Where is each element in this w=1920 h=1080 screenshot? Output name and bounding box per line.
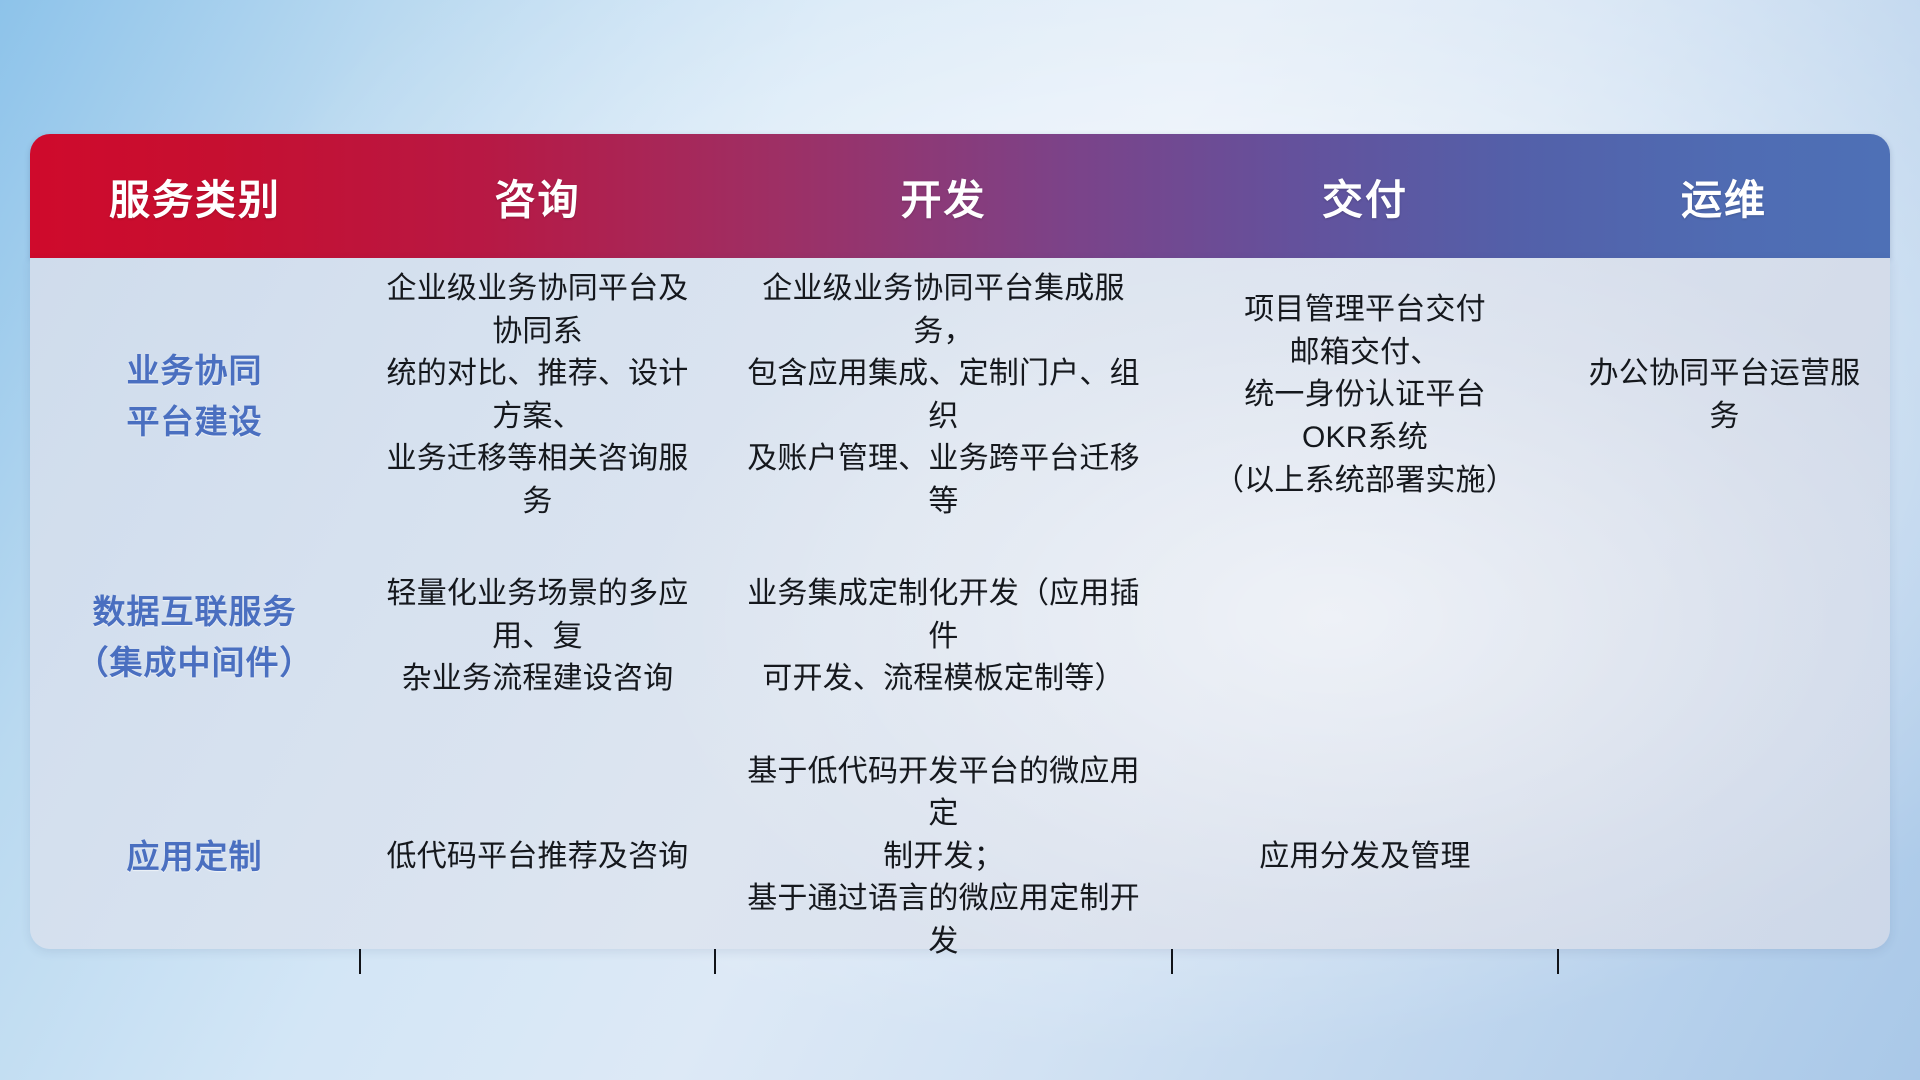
column-header-consulting: 咨询 — [360, 134, 715, 258]
cell-text: 项目管理平台交付 邮箱交付、 统一身份认证平台 OKR系统 （以上系统部署实施） — [1173, 279, 1557, 512]
cell-text — [1173, 627, 1557, 647]
table-row: 业务协同 平台建设 企业级业务协同平台及协同系 统的对比、推荐、设计方案、 业务… — [30, 258, 1890, 535]
cell-text: 应用分发及管理 — [1173, 826, 1557, 889]
row-category-label: 应用定制 — [30, 831, 359, 882]
table: 服务类别 咨询 开发 交付 运维 业务协同 平台建设 企业级业务协同平台及协同系… — [30, 134, 1890, 974]
column-header-operations: 运维 — [1558, 134, 1890, 258]
row-category-label: 数据互联服务 （集成中间件） — [30, 586, 359, 688]
cell-operations — [1558, 739, 1890, 973]
cell-consulting: 低代码平台推荐及咨询 — [360, 739, 715, 973]
cell-delivery — [1172, 535, 1558, 739]
column-header-development: 开发 — [715, 134, 1172, 258]
cell-operations — [1558, 535, 1890, 739]
service-category-table: 服务类别 咨询 开发 交付 运维 业务协同 平台建设 企业级业务协同平台及协同系… — [30, 134, 1890, 949]
header-row: 服务类别 咨询 开发 交付 运维 — [30, 134, 1890, 258]
cell-consulting: 企业级业务协同平台及协同系 统的对比、推荐、设计方案、 业务迁移等相关咨询服务 — [360, 258, 715, 535]
row-category-cell: 应用定制 — [30, 739, 360, 973]
cell-text: 办公协同平台运营服务 — [1559, 343, 1890, 448]
cell-consulting: 轻量化业务场景的多应用、复 杂业务流程建设咨询 — [360, 535, 715, 739]
cell-delivery: 应用分发及管理 — [1172, 739, 1558, 973]
column-header-category: 服务类别 — [30, 134, 360, 258]
cell-delivery: 项目管理平台交付 邮箱交付、 统一身份认证平台 OKR系统 （以上系统部署实施） — [1172, 258, 1558, 535]
cell-text — [1559, 627, 1890, 647]
cell-development: 企业级业务协同平台集成服务， 包含应用集成、定制门户、组织 及账户管理、业务跨平… — [715, 258, 1172, 535]
table-header: 服务类别 咨询 开发 交付 运维 — [30, 134, 1890, 258]
cell-text: 低代码平台推荐及咨询 — [361, 826, 714, 889]
cell-text: 基于低代码开发平台的微应用定 制开发； 基于通过语言的微应用定制开发 — [716, 741, 1171, 974]
cell-text: 企业级业务协同平台集成服务， 包含应用集成、定制门户、组织 及账户管理、业务跨平… — [716, 258, 1171, 534]
cell-text: 业务集成定制化开发（应用插件 可开发、流程模板定制等） — [716, 563, 1171, 711]
cell-development: 业务集成定制化开发（应用插件 可开发、流程模板定制等） — [715, 535, 1172, 739]
table-row: 数据互联服务 （集成中间件） 轻量化业务场景的多应用、复 杂业务流程建设咨询 业… — [30, 535, 1890, 739]
cell-text — [1559, 847, 1890, 867]
row-category-cell: 业务协同 平台建设 — [30, 258, 360, 535]
cell-operations: 办公协同平台运营服务 — [1558, 258, 1890, 535]
table-body: 业务协同 平台建设 企业级业务协同平台及协同系 统的对比、推荐、设计方案、 业务… — [30, 258, 1890, 974]
cell-text: 企业级业务协同平台及协同系 统的对比、推荐、设计方案、 业务迁移等相关咨询服务 — [361, 258, 714, 534]
table-row: 应用定制 低代码平台推荐及咨询 基于低代码开发平台的微应用定 制开发； 基于通过… — [30, 739, 1890, 973]
row-category-label: 业务协同 平台建设 — [30, 345, 359, 447]
cell-text: 轻量化业务场景的多应用、复 杂业务流程建设咨询 — [361, 563, 714, 711]
page-canvas: 服务类别 咨询 开发 交付 运维 业务协同 平台建设 企业级业务协同平台及协同系… — [0, 0, 1920, 1080]
row-category-cell: 数据互联服务 （集成中间件） — [30, 535, 360, 739]
cell-development: 基于低代码开发平台的微应用定 制开发； 基于通过语言的微应用定制开发 — [715, 739, 1172, 973]
column-header-delivery: 交付 — [1172, 134, 1558, 258]
